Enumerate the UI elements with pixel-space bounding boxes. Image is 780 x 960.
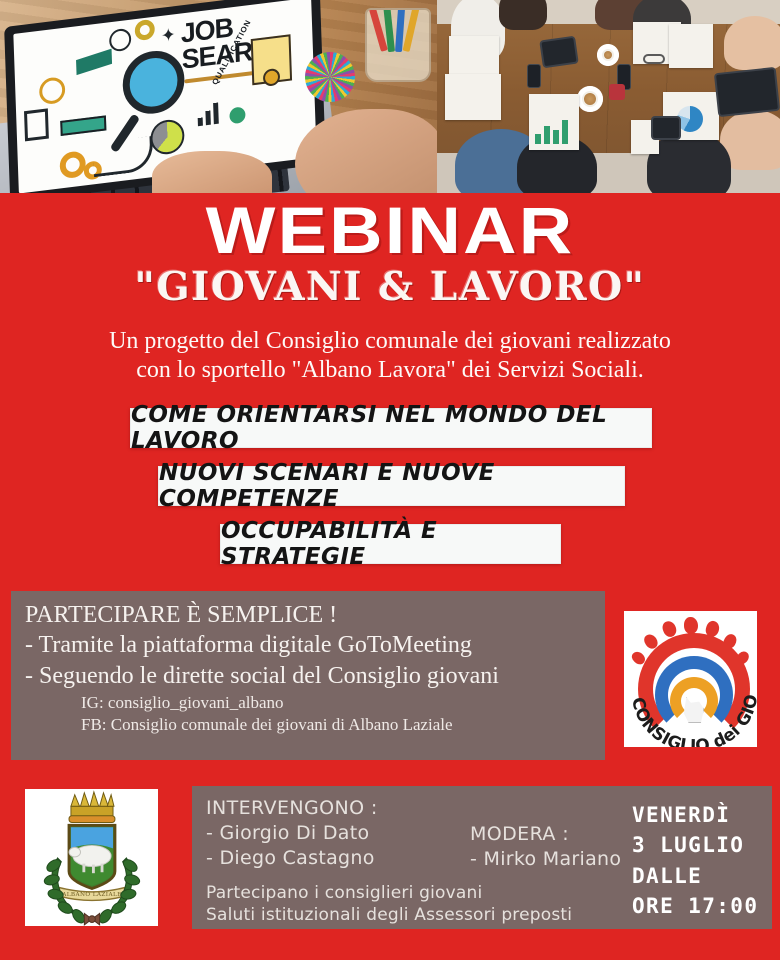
logo-curved-text: CONSIGLIO dei GIOVANI: [624, 611, 761, 751]
chart-paper-bars: [529, 94, 579, 150]
bar-chart-icon: [535, 118, 575, 144]
paper-1: [449, 36, 499, 76]
participate-line-2: - Seguendo le dirette social del Consigl…: [25, 661, 605, 692]
speakers-footnote: Partecipano i consiglieri giovani Saluti…: [206, 882, 572, 927]
certificate-icon: [251, 34, 292, 85]
tablet-1: [539, 36, 579, 69]
speaker-item-2: - Diego Castagno: [206, 846, 378, 871]
speakers-panel: INTERVENGONO : - Giorgio Di Dato - Diego…: [192, 786, 772, 929]
paper-2: [445, 74, 501, 120]
page-subtitle: "GIOVANI & LAVORO": [0, 268, 780, 307]
participate-title: PARTECIPARE È SEMPLICE !: [25, 600, 605, 630]
pie-chart-icon: [150, 118, 185, 156]
coffee-cup-1: [597, 44, 619, 66]
time-value: ORE 17:00: [632, 891, 758, 921]
tablet-2: [651, 116, 681, 140]
moderator-name: - Mirko Mariano: [470, 847, 621, 872]
footnote-line-2: Saluti istituzionali degli Assessori pre…: [206, 904, 572, 926]
description-line-2: con lo sportello "Albano Lavora" dei Ser…: [0, 356, 780, 385]
doodle-dot-icon: [229, 106, 245, 124]
pencil-yellow: [403, 8, 423, 52]
page-description: Un progetto del Consiglio comunale dei g…: [0, 327, 780, 386]
gear-icon: [59, 150, 86, 179]
person-right-arm: [724, 16, 780, 70]
arrow-icon: [93, 136, 154, 177]
lightbulb-icon: [39, 76, 66, 105]
pencil-cup: [365, 8, 431, 82]
topic-banner-2: NUOVI SCENARI E NUOVE COMPETENZE: [158, 466, 625, 506]
svg-text:CONSIGLIO dei GIOVANI: CONSIGLIO dei GIOVANI: [624, 611, 761, 751]
photo-strip: ✦ JOB SEARCH QUALIFICATION: [0, 0, 780, 193]
red-object: [609, 84, 625, 100]
date-weekday: VENERDÌ: [632, 800, 758, 830]
rubber-band-ball: [305, 52, 355, 102]
page-title: WEBINAR: [0, 197, 780, 263]
eyeglasses-icon: [643, 54, 665, 64]
speakers-column: INTERVENGONO : - Giorgio Di Dato - Diego…: [206, 796, 378, 871]
coffee-cup-2: [577, 86, 603, 112]
topic-banner-3: OCCUPABILITÀ E STRATEGIE: [220, 524, 561, 564]
magnifier-icon: [122, 47, 186, 117]
consiglio-giovani-logo: CONSIGLIO dei GIOVANI: [620, 607, 761, 751]
phone-1: [527, 64, 541, 88]
moderator-column: MODERA : - Mirko Mariano: [470, 822, 621, 872]
coat-of-arms-graphic: ALBANO LAZIALE: [25, 789, 158, 929]
doodle-ring-icon: [134, 19, 155, 42]
person-bottom-right: [647, 131, 731, 193]
moderator-heading: MODERA :: [470, 822, 621, 847]
speakers-heading: INTERVENGONO :: [206, 796, 378, 821]
photo-job-search: ✦ JOB SEARCH QUALIFICATION: [0, 0, 437, 193]
graduation-cap-icon: [76, 49, 112, 75]
poster-root: ✦ JOB SEARCH QUALIFICATION: [0, 0, 780, 960]
doodle-star-icon: ✦: [161, 24, 177, 47]
speaker-item-1: - Giorgio Di Dato: [206, 821, 378, 846]
coat-of-arms: ALBANO LAZIALE: [22, 786, 161, 929]
instagram-handle: IG: consiglio_giovani_albano: [81, 692, 605, 714]
doodle-bar-icon: [60, 115, 106, 136]
participate-line-1: - Tramite la piattaforma digitale GoToMe…: [25, 630, 605, 661]
date-day-month: 3 LUGLIO: [632, 830, 758, 860]
person-hair-1: [499, 0, 547, 30]
time-prefix: DALLE: [632, 861, 758, 891]
svg-text:ALBANO LAZIALE: ALBANO LAZIALE: [61, 892, 122, 898]
photo-meeting-table: [437, 0, 780, 193]
hand-typing: [152, 151, 272, 193]
laptop-right: [714, 67, 780, 117]
datetime-column: VENERDÌ 3 LUGLIO DALLE ORE 17:00: [632, 800, 758, 922]
description-line-1: Un progetto del Consiglio comunale dei g…: [0, 327, 780, 356]
bar-chart-icon: [197, 101, 224, 126]
footnote-line-1: Partecipano i consiglieri giovani: [206, 882, 572, 904]
doodle-circle-icon: [109, 28, 132, 53]
facebook-handle: FB: Consiglio comunale dei giovani di Al…: [81, 714, 605, 736]
paper-4: [669, 24, 713, 68]
clipboard-icon: [24, 108, 49, 141]
topic-banner-1: COME ORIENTARSI NEL MONDO DEL LAVORO: [130, 408, 652, 448]
participate-panel: PARTECIPARE È SEMPLICE ! - Tramite la pi…: [11, 591, 605, 760]
